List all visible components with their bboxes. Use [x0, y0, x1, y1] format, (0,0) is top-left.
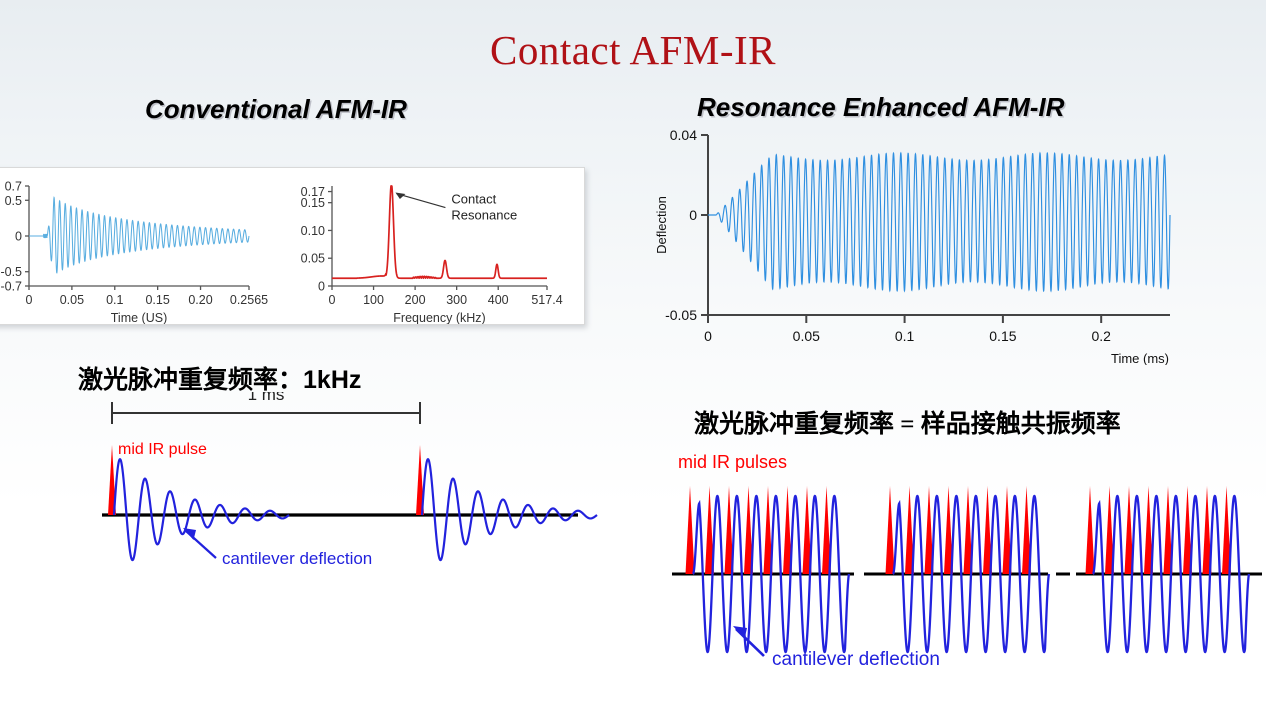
resonance-enhanced-chart: -0.0500.0400.050.10.150.2Time (ms)Deflec… [650, 115, 1250, 365]
y-tick-label: -0.7 [0, 280, 22, 294]
x-axis-label: Time (US) [111, 311, 167, 324]
laser-rep-rate-right: 激光脉冲重复频率 = 样品接触共振频率 [694, 404, 1121, 440]
page-title: Contact AFM-IR [0, 26, 1266, 74]
x-tick-label: 0 [704, 328, 712, 344]
ir-pulse [886, 486, 895, 574]
y-tick-label: 0 [689, 207, 697, 223]
x-tick-label: 0.1 [895, 328, 915, 344]
span-bracket [112, 402, 420, 424]
x-tick-label: 0.2 [1091, 328, 1111, 344]
y-axis-label: Deflection [654, 196, 669, 254]
contact-resonance-label-line1: Contact [451, 192, 496, 207]
y-tick-label: 0.5 [5, 194, 22, 208]
spectrum-trace [332, 186, 547, 278]
ringdown-chart: -0.7-0.500.50.700.050.10.150.200.2565Tim… [0, 180, 268, 325]
x-axis-label: Time (ms) [1111, 351, 1169, 365]
cantilever-deflection-label: cantilever deflection [222, 549, 372, 568]
resonance-pulse-diagram: mid IR pulsescantilever deflection [672, 446, 1266, 696]
ir-pulse [1086, 486, 1095, 574]
y-tick-label: 0 [318, 280, 325, 294]
laser-rep-rate-left-value: 1kHz [303, 366, 361, 394]
ir-pulse-label: mid IR pulse [118, 441, 207, 458]
deflection-trace [708, 153, 1170, 291]
laser-rep-rate-left: 激光脉冲重复频率：1kHz [78, 360, 361, 396]
y-tick-label: 0 [15, 230, 22, 244]
y-tick-label: -0.5 [0, 265, 22, 279]
x-tick-label: 0 [329, 293, 336, 307]
span-label: 1 ms [248, 392, 285, 404]
cantilever-deflection-trace [422, 459, 597, 560]
ir-pulses-label: mid IR pulses [678, 452, 787, 472]
spectrum-chart: 00.050.100.150.170100200300400517.4Frequ… [301, 185, 563, 324]
x-tick-label: 0.05 [793, 328, 820, 344]
x-tick-label: 300 [446, 293, 467, 307]
x-tick-label: 400 [488, 293, 509, 307]
x-tick-label: 0.2565 [230, 293, 268, 307]
contact-resonance-label-line2: Resonance [451, 208, 517, 223]
x-tick-label: 0.20 [188, 293, 212, 307]
y-tick-label: -0.05 [665, 307, 697, 323]
y-tick-label: 0.04 [670, 127, 697, 143]
x-tick-label: 0.15 [145, 293, 169, 307]
conventional-pulse-diagram: 1 msmid IR pulsecantilever deflection [78, 392, 598, 582]
x-tick-label: 0.05 [60, 293, 84, 307]
x-tick-label: 517.4 [531, 293, 562, 307]
panel-heading-conventional: Conventional AFM-IR [145, 94, 407, 125]
cantilever-deflection-label: cantilever deflection [772, 649, 940, 670]
x-tick-label: 0.15 [989, 328, 1016, 344]
x-tick-label: 0 [26, 293, 33, 307]
x-tick-label: 200 [405, 293, 426, 307]
y-tick-label: 0.10 [301, 224, 325, 238]
x-tick-label: 100 [363, 293, 384, 307]
ringdown-trace [29, 197, 249, 272]
x-axis-label: Frequency (kHz) [393, 311, 485, 324]
ir-pulse [686, 486, 695, 574]
conventional-figure-card: -0.7-0.500.50.700.050.10.150.200.2565Tim… [0, 167, 585, 325]
x-tick-label: 0.1 [106, 293, 123, 307]
y-tick-label: 0.17 [301, 185, 325, 199]
laser-rep-rate-left-prefix: 激光脉冲重复频率： [78, 367, 303, 394]
y-tick-label: 0.7 [5, 180, 22, 194]
conventional-figure-svg: -0.7-0.500.50.700.050.10.150.200.2565Tim… [0, 168, 584, 324]
y-tick-label: 0.05 [301, 252, 325, 266]
